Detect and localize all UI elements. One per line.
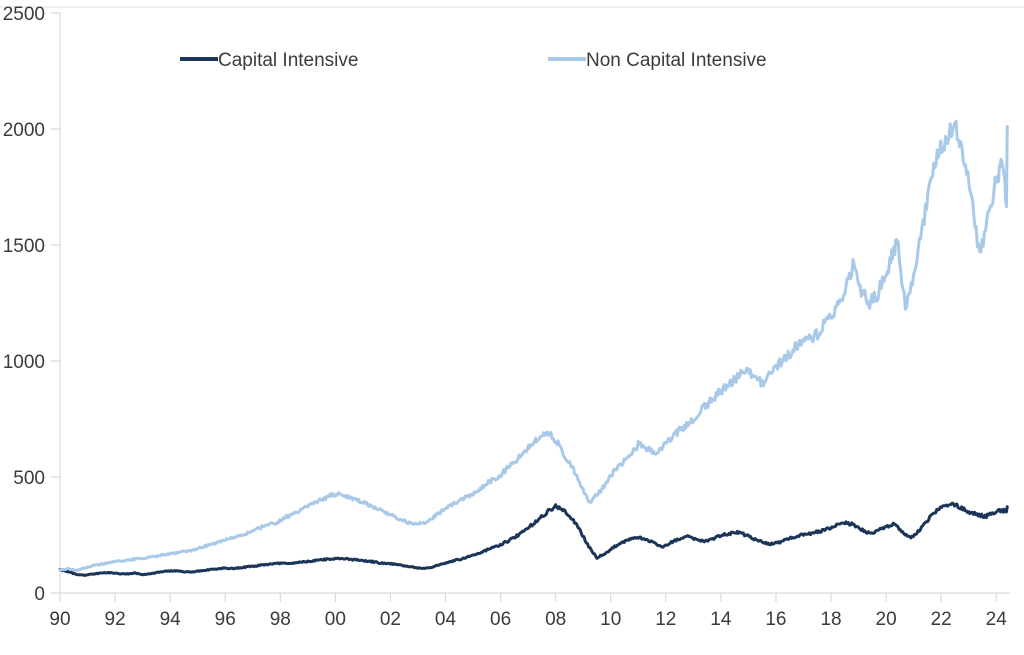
x-tick-label: 94 (160, 609, 182, 630)
x-tick-label: 24 (986, 609, 1008, 630)
x-tick-label: 12 (655, 609, 676, 630)
x-tick-label: 08 (545, 609, 566, 630)
x-tick-label: 10 (600, 609, 621, 630)
x-tick-label: 98 (270, 609, 291, 630)
y-tick-label: 1500 (3, 236, 45, 257)
y-tick-label: 2000 (3, 120, 45, 141)
y-tick-label: 2500 (3, 4, 45, 25)
x-tick-label: 14 (710, 609, 732, 630)
x-tick-label: 18 (820, 609, 841, 630)
y-tick-label: 1000 (3, 352, 45, 373)
x-tick-label: 96 (215, 609, 236, 630)
x-tick-label: 16 (765, 609, 786, 630)
x-tick-label: 06 (490, 609, 511, 630)
x-tick-label: 22 (931, 609, 952, 630)
x-tick-label: 20 (876, 609, 897, 630)
line-chart: 05001000150020002500 9092949698000204060… (0, 0, 1024, 655)
x-tick-label: 92 (105, 609, 126, 630)
y-tick-label: 0 (34, 584, 45, 605)
y-tick-label: 500 (13, 468, 45, 489)
x-tick-label: 04 (435, 609, 457, 630)
x-tick-label: 90 (49, 609, 70, 630)
chart-container: 05001000150020002500 9092949698000204060… (0, 0, 1024, 655)
x-tick-label: 00 (325, 609, 346, 630)
legend-label: Non Capital Intensive (586, 50, 767, 71)
x-tick-label: 02 (380, 609, 401, 630)
legend-label: Capital Intensive (218, 50, 358, 71)
